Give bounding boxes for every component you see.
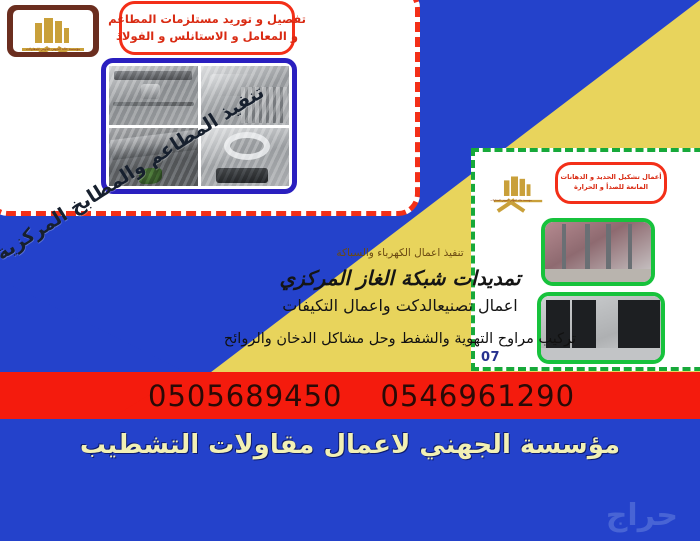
- haraj-watermark: حراج: [606, 498, 678, 533]
- headline-line-1: تفصيل و توريد مستلزمات المطاعم: [108, 11, 306, 28]
- center-services-block: تنفيذ اعمال الكهرباء والسباكة تمديدات شب…: [170, 247, 630, 347]
- company-logo-secondary: مؤسسة خالد الجهني الجهني للمقاولات: [483, 159, 539, 203]
- panel-number: 07: [481, 350, 500, 365]
- service-ventilation-fans: تركيب مراوح التهوية والشفط وحل مشاكل الد…: [170, 331, 630, 347]
- phone-primary[interactable]: 0505689450: [148, 379, 343, 413]
- logo-caption: مؤسسة خالد الجهني الجهني للمقاولات: [13, 47, 93, 51]
- headline-pill-top: تفصيل و توريد مستلزمات المطاعم و المعامل…: [119, 1, 295, 55]
- service-duct-ac: اعمال تصنيعالدكت واعمال التكيفات: [170, 296, 630, 315]
- photo-kitchen-hood: [109, 66, 198, 125]
- green-headline-line-1: أعمال تشكيل الحديد و الدهانات: [561, 173, 662, 183]
- headline-line-2: و المعامل و الاستانلس و الفولاذ: [116, 28, 298, 45]
- phone-secondary[interactable]: 0546961290: [381, 379, 576, 413]
- photo-round-extractor: [201, 128, 290, 187]
- flyer-canvas: مؤسسة خالد الجهني الجهني للمقاولات تفصيل…: [0, 0, 700, 541]
- company-name-text: مؤسسة الجهني لاعمال مقاولات التشطيب: [80, 430, 620, 460]
- top-info-card: مؤسسة خالد الجهني الجهني للمقاولات تفصيل…: [0, 0, 420, 216]
- contact-phone-row: 0505689450 0546961290: [0, 374, 700, 418]
- green-headline-line-2: المانعة للصدأ و الحرارة: [574, 183, 648, 193]
- logo-caption-secondary: مؤسسة خالد الجهني الجهني للمقاولات: [483, 199, 539, 202]
- company-logo: مؤسسة خالد الجهني الجهني للمقاولات: [7, 5, 99, 57]
- company-name-banner: مؤسسة الجهني لاعمال مقاولات التشطيب: [0, 419, 700, 471]
- headline-pill-green: أعمال تشكيل الحديد و الدهانات المانعة لل…: [555, 162, 667, 204]
- service-gas-network: تمديدات شبكة الغاز المركزي: [170, 266, 630, 290]
- service-electrical-plumbing: تنفيذ اعمال الكهرباء والسباكة: [170, 247, 630, 259]
